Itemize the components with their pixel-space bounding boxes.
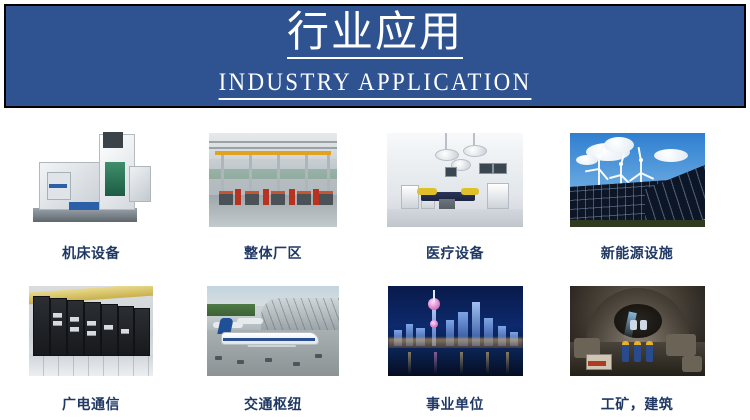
- city-skyline-image: [388, 286, 523, 376]
- thumb-wrap: [551, 275, 723, 387]
- wind-solar-image: [570, 133, 705, 227]
- header-banner: 行业应用 INDUSTRY APPLICATION: [4, 4, 746, 108]
- grid-item-transport-hub[interactable]: 交通枢纽: [187, 275, 359, 414]
- grid-item-medical[interactable]: 医疗设备: [369, 124, 541, 263]
- grid-item-label: 医疗设备: [426, 243, 484, 263]
- factory-workshop-image: [209, 133, 337, 227]
- thumb-wrap: [187, 275, 359, 387]
- thumb-wrap: [5, 275, 177, 387]
- server-racks-image: [29, 286, 153, 376]
- grid-item-broadcast-communication[interactable]: 广电通信: [5, 275, 177, 414]
- page-title: 行业应用: [287, 12, 463, 59]
- tunnel-construction-image: [570, 286, 705, 376]
- grid-item-label: 新能源设施: [601, 243, 674, 263]
- grid-item-label: 工矿，建筑: [601, 394, 674, 414]
- grid-item-label: 交通枢纽: [244, 394, 302, 414]
- grid-item-machine-tool[interactable]: 机床设备: [5, 124, 177, 263]
- thumb-wrap: [187, 124, 359, 236]
- grid-item-factory[interactable]: 整体厂区: [187, 124, 359, 263]
- industry-application-grid: 机床设备: [0, 124, 750, 414]
- page-subtitle: INDUSTRY APPLICATION: [219, 70, 532, 100]
- grid-item-new-energy[interactable]: 新能源设施: [551, 124, 723, 263]
- thumb-wrap: [369, 275, 541, 387]
- grid-item-label: 广电通信: [62, 394, 120, 414]
- thumb-wrap: [551, 124, 723, 236]
- grid-item-label: 事业单位: [426, 394, 484, 414]
- operating-room-image: [387, 133, 523, 227]
- grid-item-label: 机床设备: [62, 243, 120, 263]
- grid-item-public-institution[interactable]: 事业单位: [369, 275, 541, 414]
- grid-item-mining-construction[interactable]: 工矿，建筑: [551, 275, 723, 414]
- airport-image: [207, 286, 339, 376]
- grid-item-label: 整体厂区: [244, 243, 302, 263]
- thumb-wrap: [5, 124, 177, 236]
- cnc-machine-tool-image: [25, 124, 157, 236]
- thumb-wrap: [369, 124, 541, 236]
